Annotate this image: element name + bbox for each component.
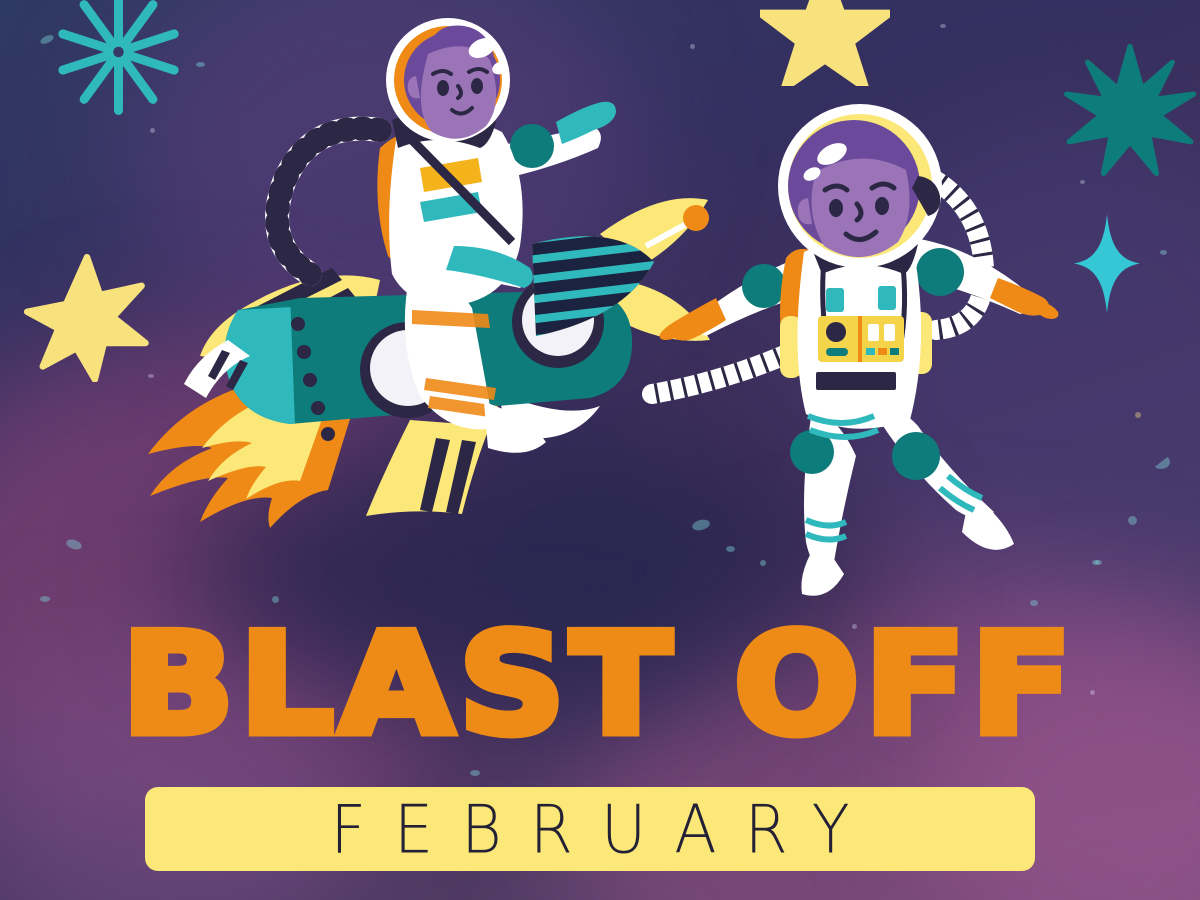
floating-astronaut-illustration [660,120,1100,600]
yellow-shooting-star-icon [760,0,960,66]
month-banner: FEBRUARY [145,787,1035,871]
astronaut-riding-rocket-illustration [80,10,720,510]
month-label: FEBRUARY [302,790,877,869]
poster-canvas: BLAST OFF FEBRUARY [0,0,1200,900]
page-title: BLAST OFF [0,616,1200,754]
